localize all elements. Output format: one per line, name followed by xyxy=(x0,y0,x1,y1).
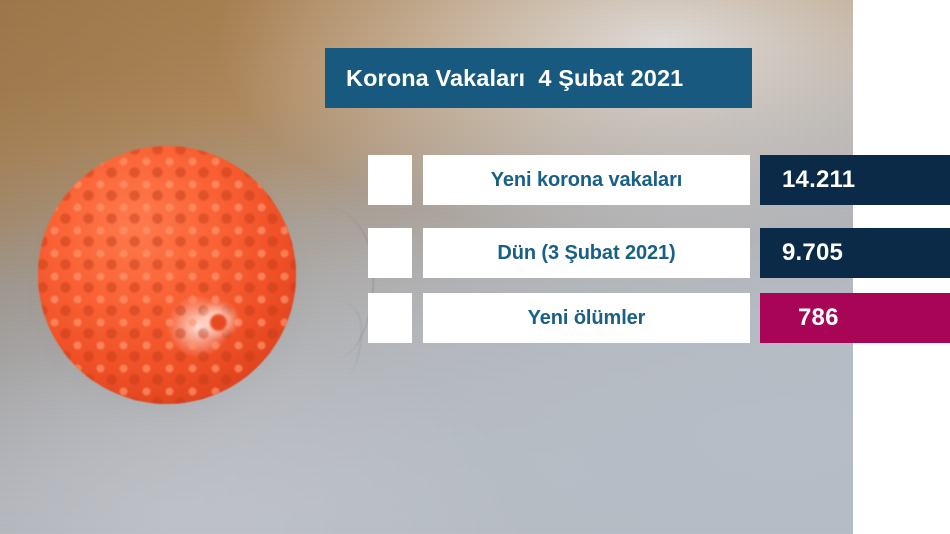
row-value-box: 9.705 xyxy=(760,228,950,278)
stat-value: 14.211 xyxy=(782,166,855,194)
ball-nub-texture xyxy=(38,146,296,404)
row-swatch-box xyxy=(368,293,412,343)
stat-label: Yeni korona vakaları xyxy=(491,169,682,192)
stat-row-new-cases: Yeni korona vakaları 14.211 xyxy=(368,155,950,205)
row-value-box: 786 xyxy=(760,293,950,343)
stat-label: Dün (3 Şubat 2021) xyxy=(497,242,675,265)
row-swatch-box xyxy=(368,228,412,278)
spiky-ball-image xyxy=(18,128,314,424)
row-label-box: Dün (3 Şubat 2021) xyxy=(423,228,750,278)
thread-shadow-lower xyxy=(318,300,362,374)
stat-row-new-deaths: Yeni ölümler 786 xyxy=(368,293,950,343)
row-label-box: Yeni korona vakaları xyxy=(423,155,750,205)
stat-label: Yeni ölümler xyxy=(528,307,646,330)
infographic-screen: Korona Vakaları 4 Şubat 2021 Yeni korona… xyxy=(0,0,950,534)
stat-value: 9.705 xyxy=(782,239,843,267)
stat-value: 786 xyxy=(782,304,839,332)
row-label-box: Yeni ölümler xyxy=(423,293,750,343)
title-banner: Korona Vakaları 4 Şubat 2021 xyxy=(325,48,752,108)
row-swatch-box xyxy=(368,155,412,205)
stat-row-yesterday: Dün (3 Şubat 2021) 9.705 xyxy=(368,228,950,278)
ball-center-dimple xyxy=(210,314,227,331)
row-value-box: 14.211 xyxy=(760,155,950,205)
page-title: Korona Vakaları 4 Şubat 2021 xyxy=(346,65,683,92)
